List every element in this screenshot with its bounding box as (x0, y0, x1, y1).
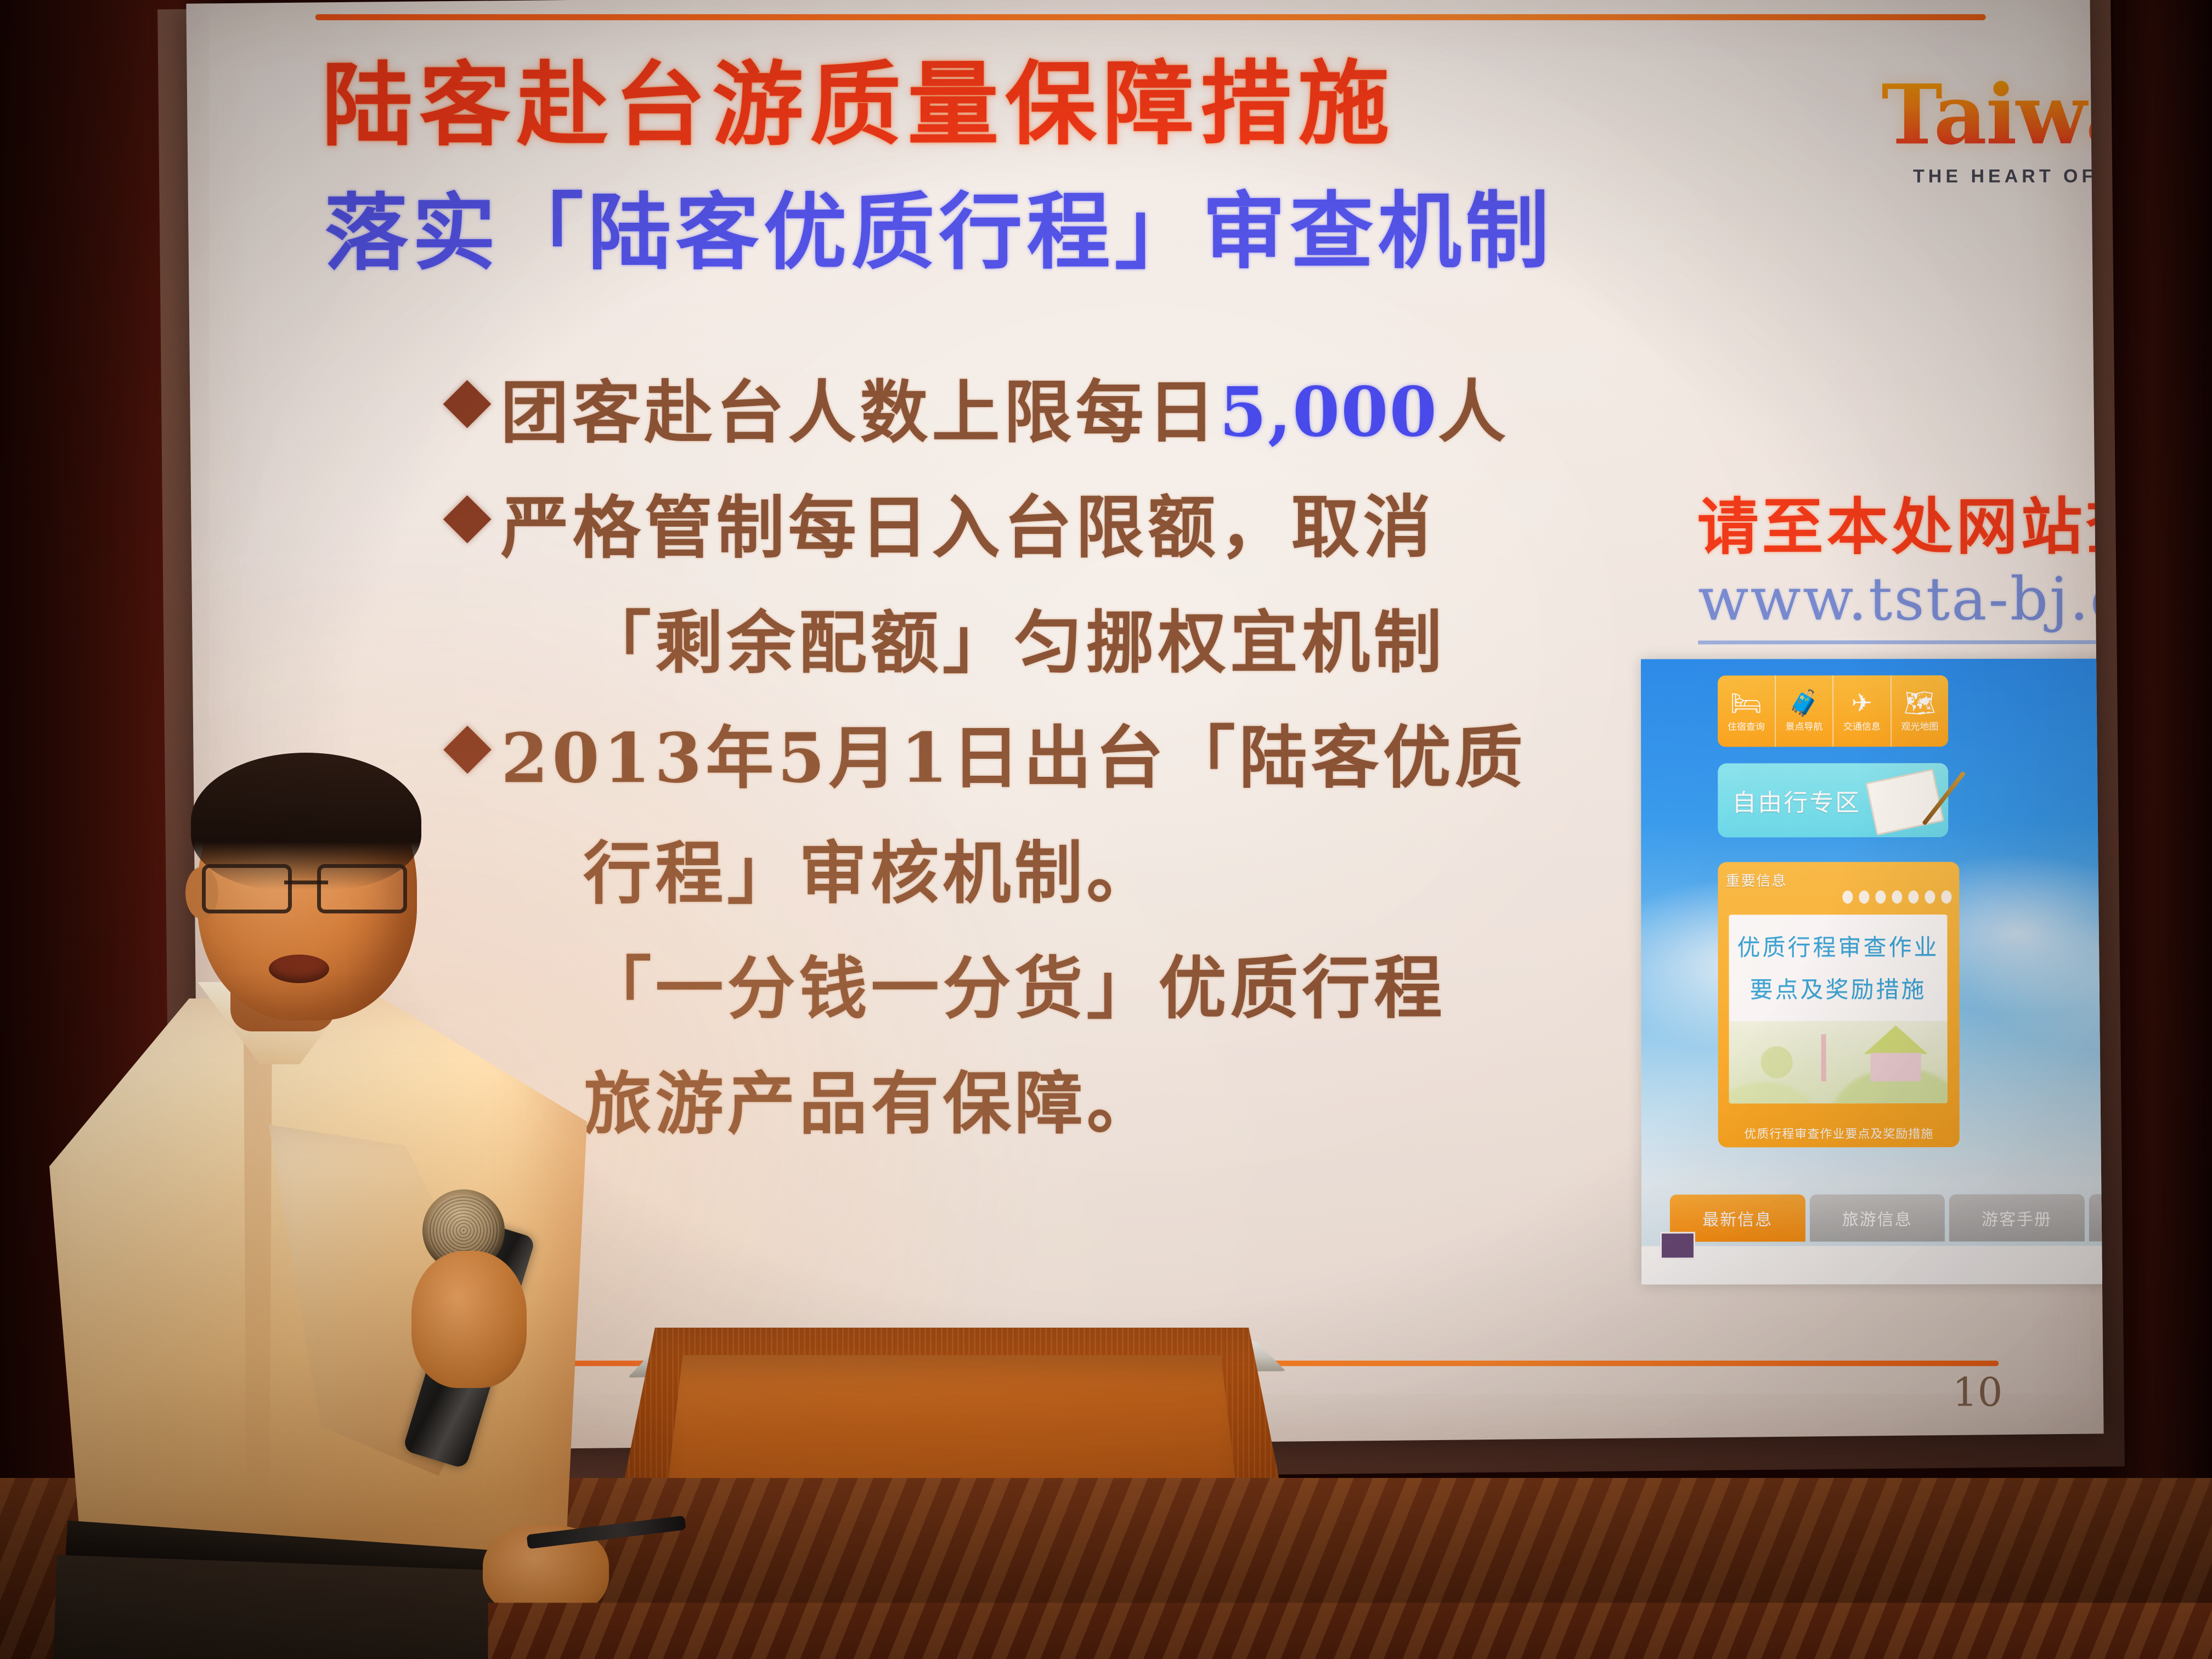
taiwan-logo: Taiwan THE HEART OF ASIA (1880, 74, 2104, 188)
speaker-mouth (269, 955, 329, 983)
website-tab[interactable]: RSS (2089, 1194, 2103, 1242)
airplane-icon: ✈ (1852, 690, 1873, 715)
website-icon-label: 景点导航 (1785, 719, 1822, 732)
info-panel-caption: 优质行程审查作业要点及奖励措施 (1718, 1124, 1960, 1142)
website-screenshot: 🛏住宿查询🧳景点导航✈交通信息🗺观光地图 自由行专区 重要信息 优质行程审查作业… (1641, 659, 2104, 1285)
bullet-text: 「剩余配额」匀挪权宜机制 (583, 603, 1446, 683)
bullet-line: 严格管制每日入台限额，取消 (501, 494, 1730, 563)
website-tab-bar: 最新信息旅游信息游客手册RSS (1670, 1194, 2104, 1242)
house-shape (1871, 1053, 1921, 1081)
info-card-line-1: 优质行程审查作业 (1729, 929, 1947, 962)
sidebar-heading: 请至本处网站查询 (1697, 477, 2104, 567)
website-icon-bar: 🛏住宿查询🧳景点导航✈交通信息🗺观光地图 (1718, 675, 1948, 747)
thumbnail-image (1660, 1232, 1695, 1259)
carousel-dots[interactable] (1842, 890, 1951, 904)
website-icon-cell[interactable]: 🛏住宿查询 (1718, 675, 1776, 747)
slide-subtitle: 落实「陆客优质行程」审查机制 (324, 186, 1805, 277)
lens-right (317, 864, 407, 913)
website-tab[interactable]: 游客手册 (1949, 1194, 2085, 1242)
bullet-line: 「一分钱一分货」优质行程 (501, 955, 1730, 1024)
website-icon-label: 住宿查询 (1728, 719, 1765, 732)
website-tab[interactable]: 旅游信息 (1809, 1194, 1945, 1242)
room-wall-right (2113, 0, 2212, 1481)
diamond-bullet-icon (443, 380, 492, 428)
website-footer (1641, 1246, 2104, 1285)
bullet-list: 团客赴台人数上限每日5,000人严格管制每日入台限额，取消「剩余配额」匀挪权宜机… (500, 379, 1730, 1186)
taiwan-wordmark: Taiwan (1880, 74, 2104, 156)
free-travel-label: 自由行专区 (1732, 783, 1861, 818)
bullet-line: 2013年5月1日出台「陆客优质 (501, 724, 1730, 793)
tree-shape (1761, 1046, 1793, 1078)
website-icon-cell[interactable]: 🧳景点导航 (1776, 675, 1834, 747)
info-panel-title: 重要信息 (1725, 870, 1951, 890)
info-panel: 重要信息 优质行程审查作业 要点及奖励措施 优 (1718, 862, 1959, 1147)
website-icon-label: 交通信息 (1843, 719, 1881, 732)
sidebar-url-link[interactable]: www.tsta-bj.org (1698, 565, 2104, 645)
website-icon-label: 观光地图 (1901, 719, 1938, 732)
house-roof-shape (1864, 1025, 1928, 1054)
speaker (33, 741, 680, 1659)
info-card-line-2: 要点及奖励措施 (1729, 971, 1947, 1005)
glasses-bridge (284, 881, 328, 884)
luggage-icon: 🧳 (1788, 690, 1820, 715)
bullet-line: 「剩余配额」匀挪权宜机制 (501, 609, 1730, 678)
bullet-text: 「一分钱一分货」优质行程 (583, 949, 1446, 1029)
taiwan-tagline: THE HEART OF ASIA (1880, 166, 2104, 188)
illustration-scene (1729, 1021, 1948, 1103)
map-icon: 🗺 (1904, 690, 1936, 715)
bullet-line: 旅游产品有保障。 (501, 1070, 1730, 1139)
notebook-icon (1865, 769, 1944, 836)
bullet-highlight-number: 5,000 (1219, 373, 1437, 452)
pole-shape (1821, 1034, 1826, 1081)
bullet-text: 严格管制每日入台限额，取消 (501, 488, 1435, 568)
slide-page-number: 10 (1953, 1369, 2003, 1415)
bullet-line: 团客赴台人数上限每日5,000人 (500, 379, 1729, 448)
speaker-hand-holding-mic (411, 1251, 527, 1388)
eyeglasses (198, 864, 411, 908)
free-travel-button[interactable]: 自由行专区 (1718, 763, 1948, 837)
bullet-text: 人 (1438, 373, 1510, 452)
slide-title: 陆客赴台游质量保障措施 (321, 55, 1649, 154)
top-rule (315, 14, 1986, 20)
presentation-photo: 陆客赴台游质量保障措施 落实「陆客优质行程」审查机制 Taiwan THE HE… (0, 0, 2212, 1659)
website-icon-cell[interactable]: ✈交通信息 (1833, 675, 1892, 747)
lens-left (202, 864, 292, 913)
diamond-bullet-icon (443, 495, 492, 544)
bullet-text: 团客赴台人数上限每日 (500, 373, 1219, 453)
bullet-line: 行程」审核机制。 (501, 839, 1730, 909)
bed-icon: 🛏 (1730, 690, 1762, 715)
website-icon-cell[interactable]: 🗺观光地图 (1892, 675, 1949, 747)
info-panel-card[interactable]: 优质行程审查作业 要点及奖励措施 (1729, 915, 1947, 1103)
speaker-trousers (53, 1555, 550, 1659)
